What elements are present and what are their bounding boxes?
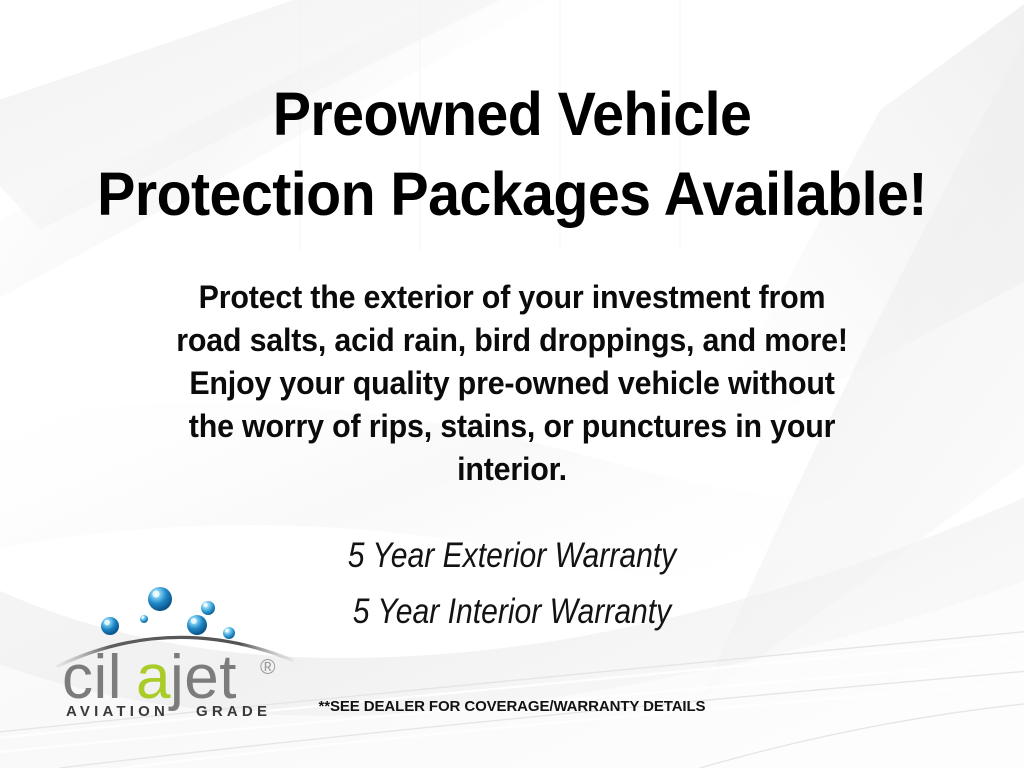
bubble-large: [148, 587, 172, 611]
bubble-small-upper-right: [201, 601, 215, 615]
body-line-1: Protect the exterior of your investment …: [26, 276, 999, 319]
bubble-far-right-highlight: [225, 629, 229, 633]
headline-line-1: Preowned Vehicle: [31, 74, 994, 154]
body-copy: Protect the exterior of your investment …: [26, 276, 999, 491]
body-line-5: interior.: [26, 448, 999, 491]
logo-wordmark-before: cil: [62, 643, 122, 712]
body-line-2: road salts, acid rain, bird droppings, a…: [26, 319, 999, 362]
bubble-left: [101, 617, 119, 635]
cilajet-logo: cil a jet ® AVIATION GRADE: [52, 582, 302, 722]
slide-canvas: Preowned Vehicle Protection Packages Ava…: [0, 0, 1024, 768]
bubble-far-right: [223, 627, 235, 639]
bubble-right: [187, 615, 207, 635]
cilajet-logo-svg: cil a jet ® AVIATION GRADE: [52, 582, 302, 722]
bubble-tiny-highlight: [142, 616, 145, 619]
logo-tagline-grade: GRADE: [196, 703, 271, 720]
body-line-4: the worry of rips, stains, or punctures …: [26, 405, 999, 448]
warranty-exterior: 5 Year Exterior Warranty: [72, 528, 953, 584]
bubble-left-highlight: [104, 620, 110, 626]
registered-trademark-icon: ®: [260, 656, 276, 679]
logo-wordmark-after: jet: [168, 643, 237, 712]
page-title: Preowned Vehicle Protection Packages Ava…: [31, 74, 994, 234]
body-line-3: Enjoy your quality pre-owned vehicle wit…: [26, 362, 999, 405]
bubble-tiny: [140, 615, 148, 623]
slide-content: Preowned Vehicle Protection Packages Ava…: [0, 0, 1024, 768]
bubble-large-highlight: [152, 590, 159, 597]
bubble-right-highlight: [191, 618, 197, 624]
headline-line-2: Protection Packages Available!: [31, 154, 994, 234]
bubble-small-upper-right-highlight: [203, 603, 207, 607]
logo-wordmark-accent: a: [136, 643, 171, 712]
logo-bubbles: [101, 587, 235, 639]
logo-tagline-aviation: AVIATION: [66, 703, 169, 720]
